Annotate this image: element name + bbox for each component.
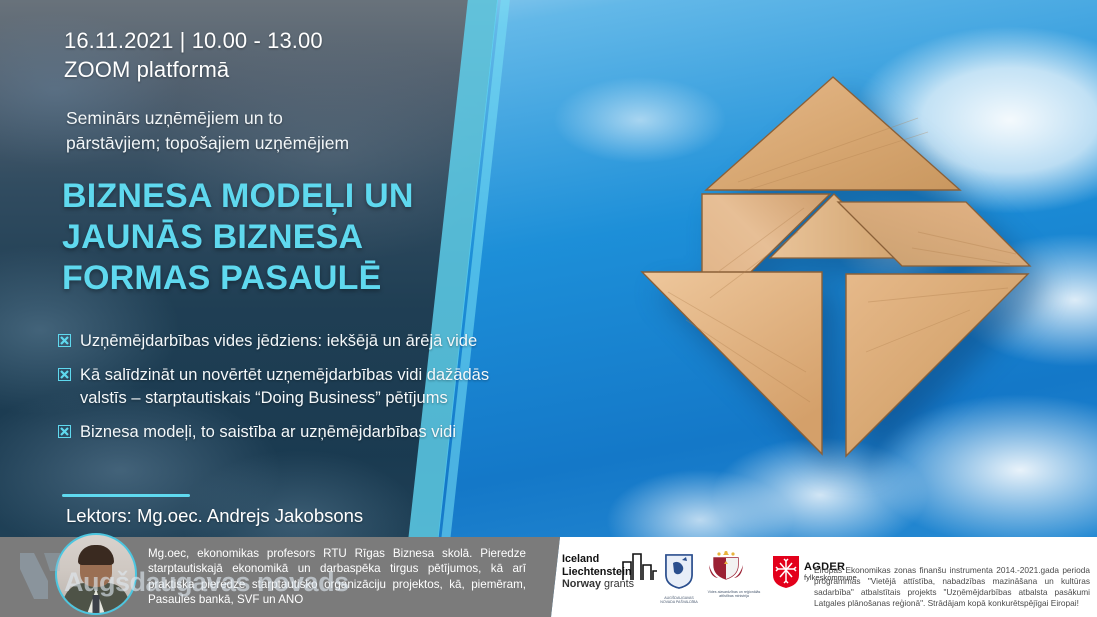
seminar-poster: 16.11.2021 | 10.00 - 13.00 ZOOM platform… <box>0 0 1097 617</box>
wooden-tangram-puzzle-image <box>598 72 1068 522</box>
page-title-line-2: JAUNĀS BIZNESA <box>62 217 512 258</box>
broken-image-x-icon <box>58 425 71 438</box>
eea-funding-statement: Eiropas Ekonomikas zonas finanšu instrum… <box>814 565 1090 609</box>
broken-image-x-icon <box>58 368 71 381</box>
avatar <box>55 533 137 615</box>
municipality-shield-icon <box>664 553 694 589</box>
grants-mark-icon <box>622 553 658 581</box>
divider <box>62 494 190 497</box>
agder-shield-icon <box>772 555 800 594</box>
list-item: Biznesa modeļi, to saistība ar uzņēmējda… <box>58 421 538 444</box>
event-audience: Seminārs uzņēmējiem un to pārstāvjiem; t… <box>66 106 446 156</box>
event-platform-line: ZOOM platformā <box>64 55 323 84</box>
page-title-line-1: BIZNESA MODEĻI UN <box>62 176 512 217</box>
lector-bio: Mg.oec, ekonomikas profesors RTU Rīgas B… <box>148 546 526 607</box>
list-item: Uzņēmējdarbības vides jēdziens: iekšējā … <box>58 330 538 353</box>
avatar-hair <box>78 545 114 565</box>
municipality-caption: AUGŠDAUGAVAS NOVADA PAŠVALDĪBA <box>658 596 700 605</box>
list-item-label: Kā salīdzināt un novērtēt uzņemējdarbība… <box>80 366 489 407</box>
list-item: Kā salīdzināt un novērtēt uzņemējdarbība… <box>58 364 538 410</box>
avatar-tie <box>93 595 100 615</box>
broken-image-x-icon <box>58 334 71 347</box>
event-datetime-line: 16.11.2021 | 10.00 - 13.00 <box>64 26 323 55</box>
lector-name: Lektors: Mg.oec. Andrejs Jakobsons <box>66 503 363 529</box>
eea-norway-grants-logo: Iceland Liechtenstein Norway grants <box>562 553 634 591</box>
event-audience-line-1: Seminārs uzņēmējiem un to <box>66 106 446 131</box>
event-audience-line-2: pārstāvjiem; topošajiem uzņēmējiem <box>66 131 446 156</box>
list-item-label: Uzņēmējdarbības vides jēdziens: iekšējā … <box>80 332 477 350</box>
latvia-ministry-coat-of-arms-icon <box>706 549 746 583</box>
topics-list: Uzņēmējdarbības vides jēdziens: iekšējā … <box>58 330 538 455</box>
page-title: BIZNESA MODEĻI UN JAUNĀS BIZNESA FORMAS … <box>62 176 512 299</box>
ministry-logo: Vides aizsardzības un reģionālās attīstī… <box>706 549 762 599</box>
event-datetime: 16.11.2021 | 10.00 - 13.00 ZOOM platform… <box>64 26 323 84</box>
municipality-crest-logo: AUGŠDAUGAVAS NOVADA PAŠVALDĪBA <box>664 553 700 605</box>
list-item-label: Biznesa modeļi, to saistība ar uzņēmējda… <box>80 423 456 441</box>
page-title-line-3: FORMAS PASAULĒ <box>62 258 512 299</box>
partner-logos: Iceland Liechtenstein Norway grants AUGŠ… <box>560 543 812 611</box>
grants-line-3-bold: Norway <box>562 578 601 590</box>
poster-content: 16.11.2021 | 10.00 - 13.00 ZOOM platform… <box>0 0 560 617</box>
ministry-caption: Vides aizsardzības un reģionālās attīstī… <box>706 590 762 599</box>
